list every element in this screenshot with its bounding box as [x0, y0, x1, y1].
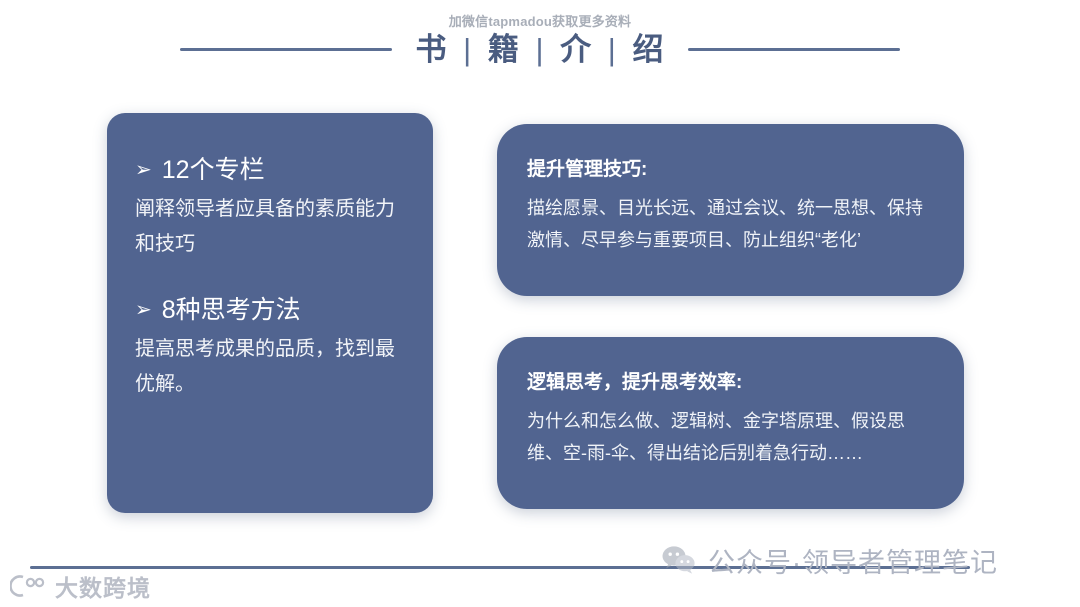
- arrow-bullet-icon: ➢: [135, 158, 152, 183]
- logo-mark-icon: [10, 574, 48, 598]
- left-block-columns-body: 阐释领导者应具备的素质能力和技巧: [135, 192, 405, 261]
- site-logo-text: 大数跨境: [55, 569, 151, 603]
- title-separator-3: |: [602, 32, 623, 67]
- left-block-methods-heading-text: 8种思考方法: [162, 296, 301, 324]
- left-block-methods-heading: ➢8种思考方法: [135, 295, 405, 326]
- footer-brand-text: 公众号·领导者管理笔记: [708, 541, 998, 580]
- wechat-icon: [662, 545, 696, 575]
- title-char-2: 籍: [488, 32, 520, 67]
- left-block-methods-body: 提高思考成果的品质，找到最优解。: [135, 332, 405, 401]
- left-block-methods: ➢8种思考方法 提高思考成果的品质，找到最优解。: [135, 295, 405, 401]
- site-logo: 大数跨境: [10, 569, 151, 603]
- left-content-card: ➢12个专栏 阐释领导者应具备的素质能力和技巧 ➢8种思考方法 提高思考成果的品…: [107, 113, 433, 513]
- slide-header: 书 | 籍 | 介 | 绍: [0, 28, 1080, 72]
- title-char-1: 书: [416, 32, 448, 67]
- title-char-4: 绍: [632, 32, 664, 67]
- right-card-management-heading: 提升管理技巧:: [527, 156, 934, 185]
- title-separator-1: |: [457, 32, 478, 67]
- title-char-3: 介: [560, 32, 592, 67]
- footer-brand: 公众号·领导者管理笔记: [662, 538, 998, 582]
- right-card-logic-heading: 逻辑思考，提升思考效率:: [527, 369, 934, 398]
- left-block-columns-heading-text: 12个专栏: [162, 156, 265, 184]
- title-separator-2: |: [529, 32, 550, 67]
- slide-root: 加微信tapmadou获取更多资料 书 | 籍 | 介 | 绍 ➢12个专栏 阐…: [0, 0, 1080, 607]
- left-block-columns-heading: ➢12个专栏: [135, 155, 405, 186]
- right-card-management-body: 描绘愿景、目光长远、通过会议、统一思想、保持激情、尽早参与重要项目、防止组织“老…: [527, 192, 934, 256]
- right-card-management: 提升管理技巧: 描绘愿景、目光长远、通过会议、统一思想、保持激情、尽早参与重要项…: [497, 124, 964, 296]
- page-title: 书 | 籍 | 介 | 绍: [0, 28, 1080, 72]
- right-card-logic-body: 为什么和怎么做、逻辑树、金字塔原理、假设思维、空-雨-伞、得出结论后别着急行动……: [527, 405, 934, 469]
- left-block-columns: ➢12个专栏 阐释领导者应具备的素质能力和技巧: [135, 155, 405, 261]
- arrow-bullet-icon: ➢: [135, 298, 152, 323]
- right-card-logic: 逻辑思考，提升思考效率: 为什么和怎么做、逻辑树、金字塔原理、假设思维、空-雨-…: [497, 337, 964, 509]
